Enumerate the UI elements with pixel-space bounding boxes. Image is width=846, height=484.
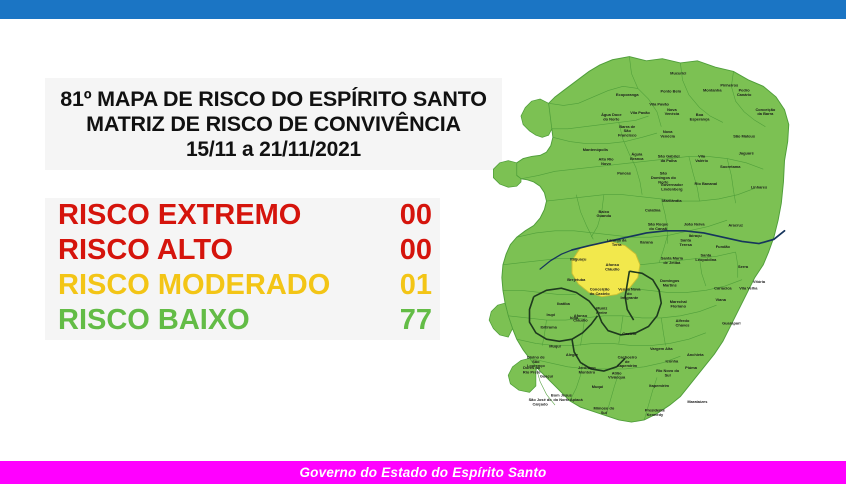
municipality-label: PresidenteKennedy [645, 407, 666, 416]
municipality-label: Santa Mariade Jetibá [661, 256, 684, 265]
municipality-label: Brejetuba [567, 277, 586, 282]
footer-bar: Governo do Estado do Espírito Santo [0, 461, 846, 484]
legend-row-extremo: RISCO EXTREMO 00 [45, 198, 440, 233]
municipality-label: Aracruz [728, 223, 743, 228]
municipality-label: Fundão [716, 244, 731, 249]
municipality-label: São Mateus [733, 133, 756, 138]
legend-count-baixo: 77 [400, 304, 432, 337]
municipality-label: Muqui [549, 344, 561, 349]
municipality-label: Iúna [570, 315, 579, 320]
municipality-label: Colatina [645, 208, 661, 213]
municipality-label: Montanha [703, 88, 722, 93]
municipality-label: MarechalFloriano [670, 299, 687, 308]
municipality-label: Cariacica [714, 285, 732, 290]
risk-map-poster: 81º MAPA DE RISCO DO ESPÍRITO SANTO MATR… [0, 0, 846, 484]
municipality-label: Mucurici [670, 71, 686, 76]
municipality-label: Piúma [685, 365, 698, 370]
legend-count-extremo: 00 [400, 199, 432, 232]
municipality-label: Itarana [640, 240, 654, 245]
municipality-label: Itapemirim [649, 383, 669, 388]
municipality-label: Linhares [751, 184, 768, 189]
municipality-label: JerônimoMonteiro [578, 365, 596, 374]
municipality-label: Rio Bananal [695, 181, 718, 186]
municipality-label: Alegre [566, 352, 579, 357]
municipality-label: Mantenópolis [583, 147, 609, 152]
municipality-label: Pinheiros [720, 82, 739, 87]
municipality-label: MunizFreire [596, 305, 608, 314]
municipality-label: São Gabrielda Palha [658, 154, 680, 163]
municipality-label: Guaçuí [540, 373, 554, 378]
municipality-label: Vila Velha [739, 285, 758, 290]
legend-row-baixo: RISCO BAIXO 77 [45, 303, 440, 338]
municipality-label: Serra [738, 264, 749, 269]
municipality-label: SantaTeresa [680, 237, 693, 246]
footer-text: Governo do Estado do Espírito Santo [299, 465, 546, 480]
municipality-label: Conceiçãodo Castelo [590, 286, 611, 295]
municipality-label: Guarapari [722, 320, 741, 325]
municipality-label: Marataízes [687, 399, 708, 404]
municipality-label: AfonsoCláudio [605, 262, 620, 271]
municipality-label: Pancas [617, 171, 632, 176]
page-title-line-2: MATRIZ DE RISCO DE CONVIVÊNCIA [86, 112, 461, 137]
municipality-label: Vargem Alta [650, 346, 673, 351]
legend-label-extremo: RISCO EXTREMO [58, 199, 301, 232]
espirito-santo-map: MucuriciMontanhaPinheirosPonto BeloPedro… [470, 50, 810, 435]
risk-legend-panel: RISCO EXTREMO 00 RISCO ALTO 00 RISCO MOD… [45, 198, 440, 340]
municipality-label: Castelo [622, 331, 637, 336]
municipality-label: Sooretama [720, 164, 741, 169]
municipality-label: Conceiçãoda Barra [755, 107, 775, 116]
municipality-label: Ibatiba [557, 301, 570, 306]
municipality-label: Iconha [666, 359, 679, 364]
municipality-label: Vila Pavão [630, 110, 650, 115]
municipality-label: Apiacá [570, 397, 584, 402]
municipality-label: ÁguiaBranca [630, 151, 644, 160]
municipality-label: Vila Pavão [649, 101, 669, 106]
municipality-label: Ibitirama [540, 325, 557, 330]
legend-count-moderado: 01 [400, 269, 432, 302]
municipality-label: São Roquedo Canaã [648, 222, 669, 231]
legend-row-moderado: RISCO MODERADO 01 [45, 268, 440, 303]
municipality-label: João Neiva [684, 222, 706, 227]
title-panel: 81º MAPA DE RISCO DO ESPÍRITO SANTO MATR… [45, 78, 502, 170]
municipality-label: Dores doRio Preto [523, 365, 541, 374]
top-blue-bar [0, 0, 846, 19]
municipality-label: São José doCalçado [529, 397, 553, 406]
page-title-line-1: 81º MAPA DE RISCO DO ESPÍRITO SANTO [60, 87, 487, 112]
municipality-label: Muqui [592, 384, 604, 389]
page-title-date-range: 15/11 a 21/11/2021 [186, 137, 361, 162]
municipality-label: Vitória [753, 279, 766, 284]
municipality-label: Água Docedo Norte [601, 112, 622, 121]
legend-label-baixo: RISCO BAIXO [58, 304, 250, 337]
legend-label-moderado: RISCO MODERADO [58, 269, 330, 302]
municipality-label: Irupi [547, 312, 556, 317]
municipality-label: Itaguaçu [570, 257, 587, 262]
municipality-label: Jaguaré [739, 150, 755, 155]
municipality-label: Ponto Belo [660, 89, 681, 94]
municipality-label: AlfredoChaves [676, 318, 691, 327]
municipality-label: Anchieta [687, 352, 704, 357]
legend-row-alto: RISCO ALTO 00 [45, 233, 440, 268]
legend-count-alto: 00 [400, 234, 432, 267]
municipality-label: Marilândia [662, 198, 682, 203]
municipality-label: Viana [716, 297, 727, 302]
legend-label-alto: RISCO ALTO [58, 234, 233, 267]
municipality-label: Ecoporanga [616, 92, 639, 97]
municipality-label: GovernadorLindenberg [661, 182, 684, 191]
